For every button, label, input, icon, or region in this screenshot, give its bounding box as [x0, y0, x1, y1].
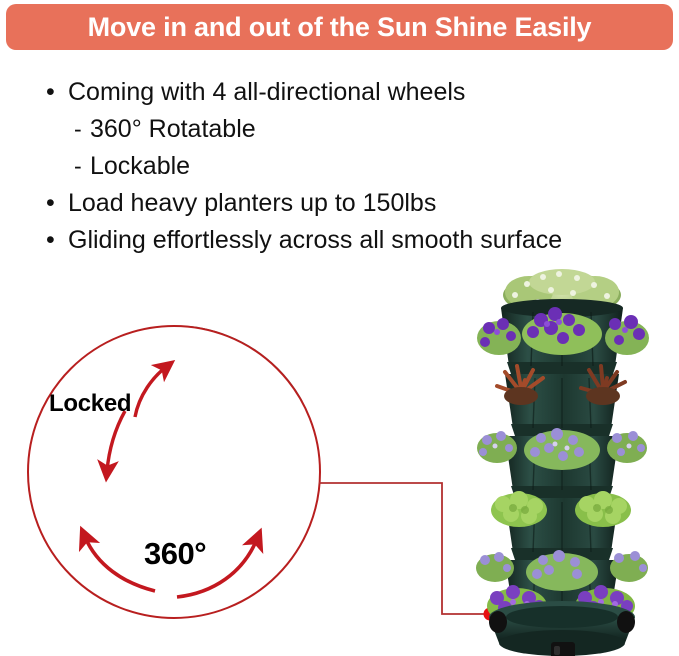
list-item: • Coming with 4 all-directional wheels	[46, 74, 666, 111]
list-item-label: Coming with 4 all-directional wheels	[68, 74, 465, 111]
bullet-marker: •	[46, 74, 68, 111]
callout-outline-circle	[27, 325, 321, 619]
tier-5-upper-flowers	[476, 550, 648, 591]
bullet-marker: •	[46, 185, 68, 222]
locked-label: Locked	[49, 390, 131, 418]
header-banner: Move in and out of the Sun Shine Easily	[6, 4, 673, 50]
list-item: • Gliding effortlessly across all smooth…	[46, 222, 666, 259]
bullet-marker: •	[46, 222, 68, 259]
list-item-label: 360° Rotatable	[90, 111, 256, 148]
rotation-degree-label: 360°	[144, 536, 206, 572]
page-title: Move in and out of the Sun Shine Easily	[88, 14, 592, 41]
bullet-marker: -	[74, 111, 90, 148]
feature-list: • Coming with 4 all-directional wheels -…	[46, 74, 666, 259]
planter-tower-illustration	[455, 262, 670, 656]
caster-left-icon	[489, 611, 507, 633]
list-item: - Lockable	[46, 148, 666, 185]
planter-tower-photo	[455, 262, 670, 656]
tier-3-flowers	[477, 428, 647, 470]
bullet-marker: -	[74, 148, 90, 185]
caster-right-icon	[617, 611, 635, 633]
list-item: - 360° Rotatable	[46, 111, 666, 148]
caster-wheel-callout	[27, 325, 321, 619]
list-item-label: Gliding effortlessly across all smooth s…	[68, 222, 562, 259]
list-item: • Load heavy planters up to 150lbs	[46, 185, 666, 222]
list-item-label: Load heavy planters up to 150lbs	[68, 185, 436, 222]
list-item-label: Lockable	[90, 148, 190, 185]
